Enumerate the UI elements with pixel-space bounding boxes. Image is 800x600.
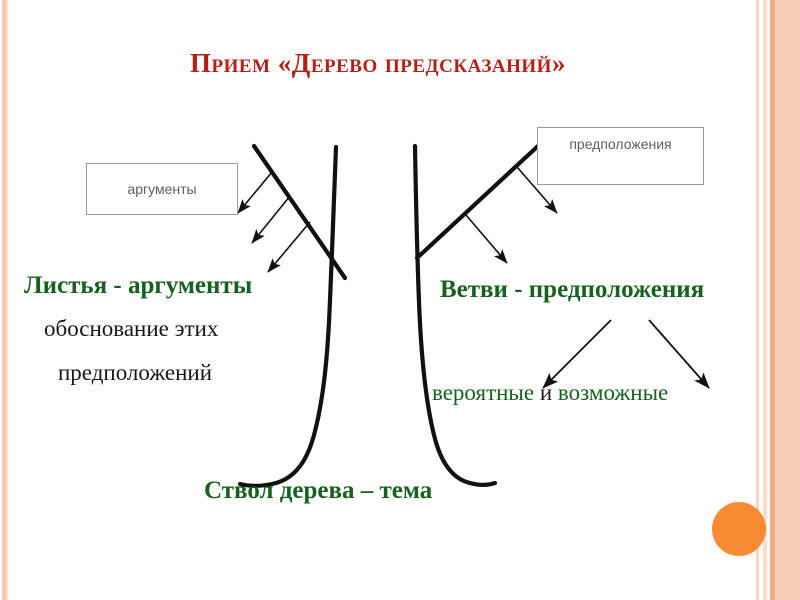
caption-branches-are-assumptions: Ветви - предположения	[440, 276, 704, 304]
orange-bullet-dot	[712, 502, 766, 556]
caption-justification-line-1: обоснование этих	[44, 316, 218, 342]
fork-arrow-left	[543, 320, 611, 388]
caption-probable-and-possible: вероятные и возможные	[432, 380, 668, 406]
caption-conjunction-word: и	[534, 380, 558, 405]
assumptions-box[interactable]: предположения	[537, 127, 704, 185]
slide-canvas: Прием «Дерево предсказаний» аргументы	[0, 0, 800, 600]
caption-trunk-is-theme: Ствол дерева – тема	[204, 477, 432, 505]
left-leaf-arrow-2	[252, 196, 290, 243]
arguments-box-label: аргументы	[127, 181, 196, 197]
fork-arrow-right	[649, 320, 709, 388]
assumptions-box-label: предположения	[569, 136, 671, 152]
right-main-branch	[417, 146, 538, 258]
caption-probable-word: вероятные	[432, 380, 534, 405]
left-main-branch	[254, 146, 345, 278]
caption-justification-line-2: предположений	[58, 360, 212, 386]
caption-leaves-are-arguments: Листья - аргументы	[24, 272, 252, 300]
arguments-box[interactable]: аргументы	[86, 163, 238, 215]
left-leaf-arrow-3	[268, 222, 310, 272]
caption-possible-word: возможные	[558, 380, 668, 405]
right-leaf-arrow-2	[466, 215, 507, 263]
left-leaf-arrow-1	[238, 172, 272, 213]
